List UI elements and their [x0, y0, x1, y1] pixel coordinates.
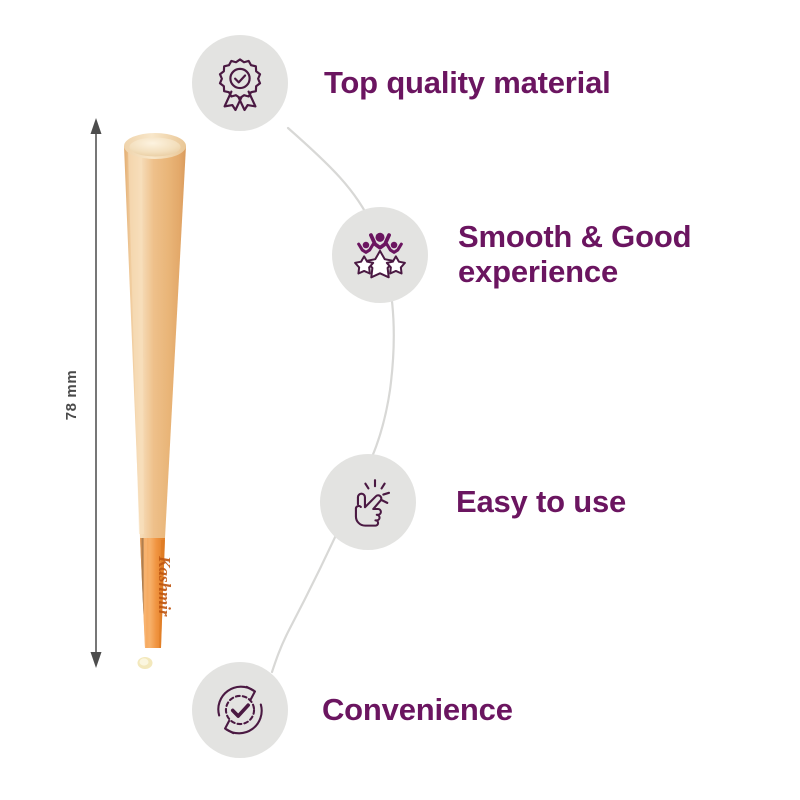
feature-label-smooth-experience: Smooth & Good experience [458, 220, 691, 289]
tap-hand-icon [320, 454, 416, 550]
feature-item-easy-to-use: Easy to use [320, 454, 626, 550]
feature-item-convenience: Convenience [192, 662, 513, 758]
people-stars-icon [332, 207, 428, 303]
feature-label-convenience: Convenience [322, 693, 513, 728]
feature-item-smooth-experience: Smooth & Good experience [332, 207, 691, 303]
feature-label-top-quality: Top quality material [324, 66, 611, 101]
feature-item-top-quality: Top quality material [192, 35, 611, 131]
feature-label-easy-to-use: Easy to use [456, 485, 626, 520]
dimension-label: 78 mm [63, 340, 80, 450]
quality-badge-icon [192, 35, 288, 131]
refresh-check-icon [192, 662, 288, 758]
brand-print-text: Kashmir [155, 555, 174, 617]
product-infographic: Kashmir 78 mm Top quality material [0, 0, 800, 800]
